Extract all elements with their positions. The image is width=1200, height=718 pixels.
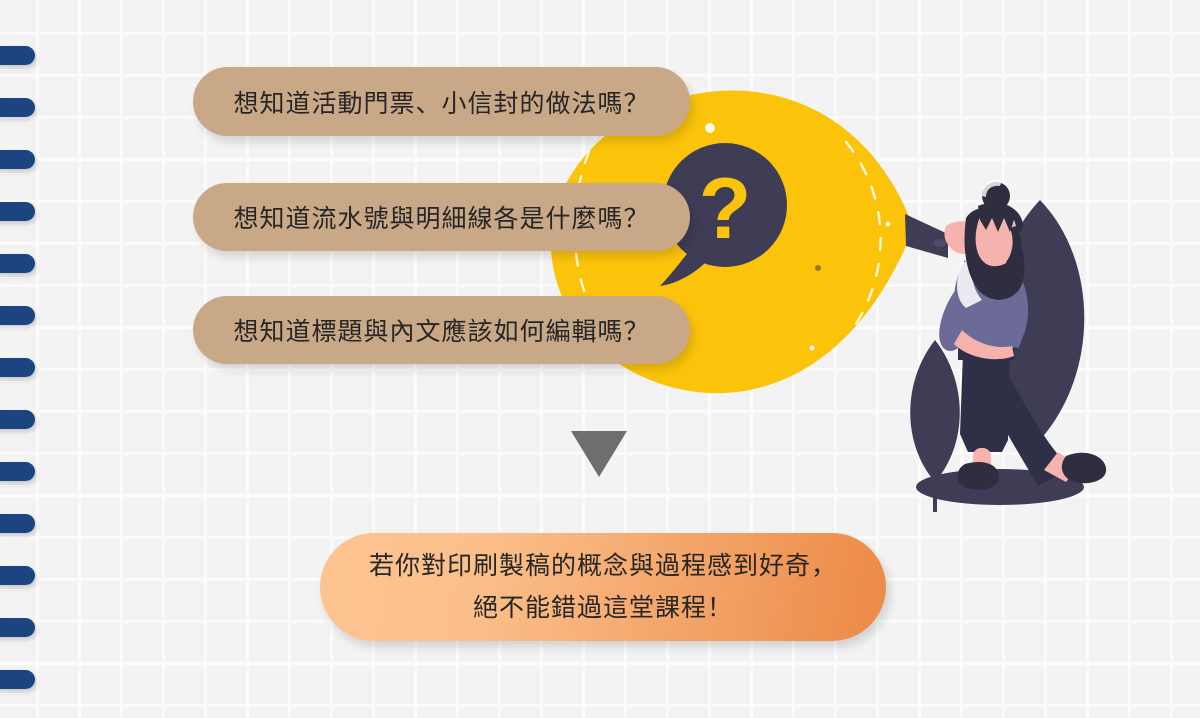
trouser-front-leg	[960, 352, 1010, 452]
megaphone-handle	[905, 214, 948, 258]
shoe-front	[958, 462, 999, 490]
binding-ring	[0, 150, 35, 169]
binding-ring	[0, 46, 35, 65]
question-bubble-1-text: 想知道活動門票、小信封的做法嗎？	[233, 84, 649, 120]
binding-ring	[0, 202, 35, 221]
binding-ring	[0, 98, 35, 117]
shoe-back	[1062, 453, 1106, 483]
poster-canvas: ?	[0, 0, 1200, 718]
binding-ring	[0, 410, 35, 429]
binding-ring	[0, 306, 35, 325]
question-bubble-3: 想知道標題與內文應該如何編輯嗎？	[193, 296, 690, 364]
question-bubble-3-text: 想知道標題與內文應該如何編輯嗎？	[233, 312, 649, 348]
binding-ring	[0, 358, 35, 377]
binding-ring	[0, 670, 35, 689]
megaphone-handle-detail	[934, 239, 946, 247]
binding-ring	[0, 566, 35, 585]
binding-ring	[0, 254, 35, 273]
down-arrow-icon	[571, 431, 627, 477]
spiral-binding	[0, 0, 60, 718]
question-bubble-2-text: 想知道流水號與明細線各是什麼嗎？	[233, 199, 649, 235]
question-bubble-1: 想知道活動門票、小信封的做法嗎？	[193, 67, 690, 136]
question-bubble-2: 想知道流水號與明細線各是什麼嗎？	[193, 183, 690, 251]
conclusion-line-1: 若你對印刷製稿的概念與過程感到好奇，	[369, 545, 837, 588]
conclusion-line-2: 絕不能錯過這堂課程！	[473, 587, 733, 630]
plant-leaf-small	[910, 340, 960, 482]
conclusion-bubble: 若你對印刷製稿的概念與過程感到好奇， 絕不能錯過這堂課程！	[320, 533, 886, 641]
binding-ring	[0, 462, 35, 481]
binding-ring	[0, 618, 35, 637]
binding-ring	[0, 514, 35, 533]
question-mark-glyph: ?	[699, 161, 752, 257]
